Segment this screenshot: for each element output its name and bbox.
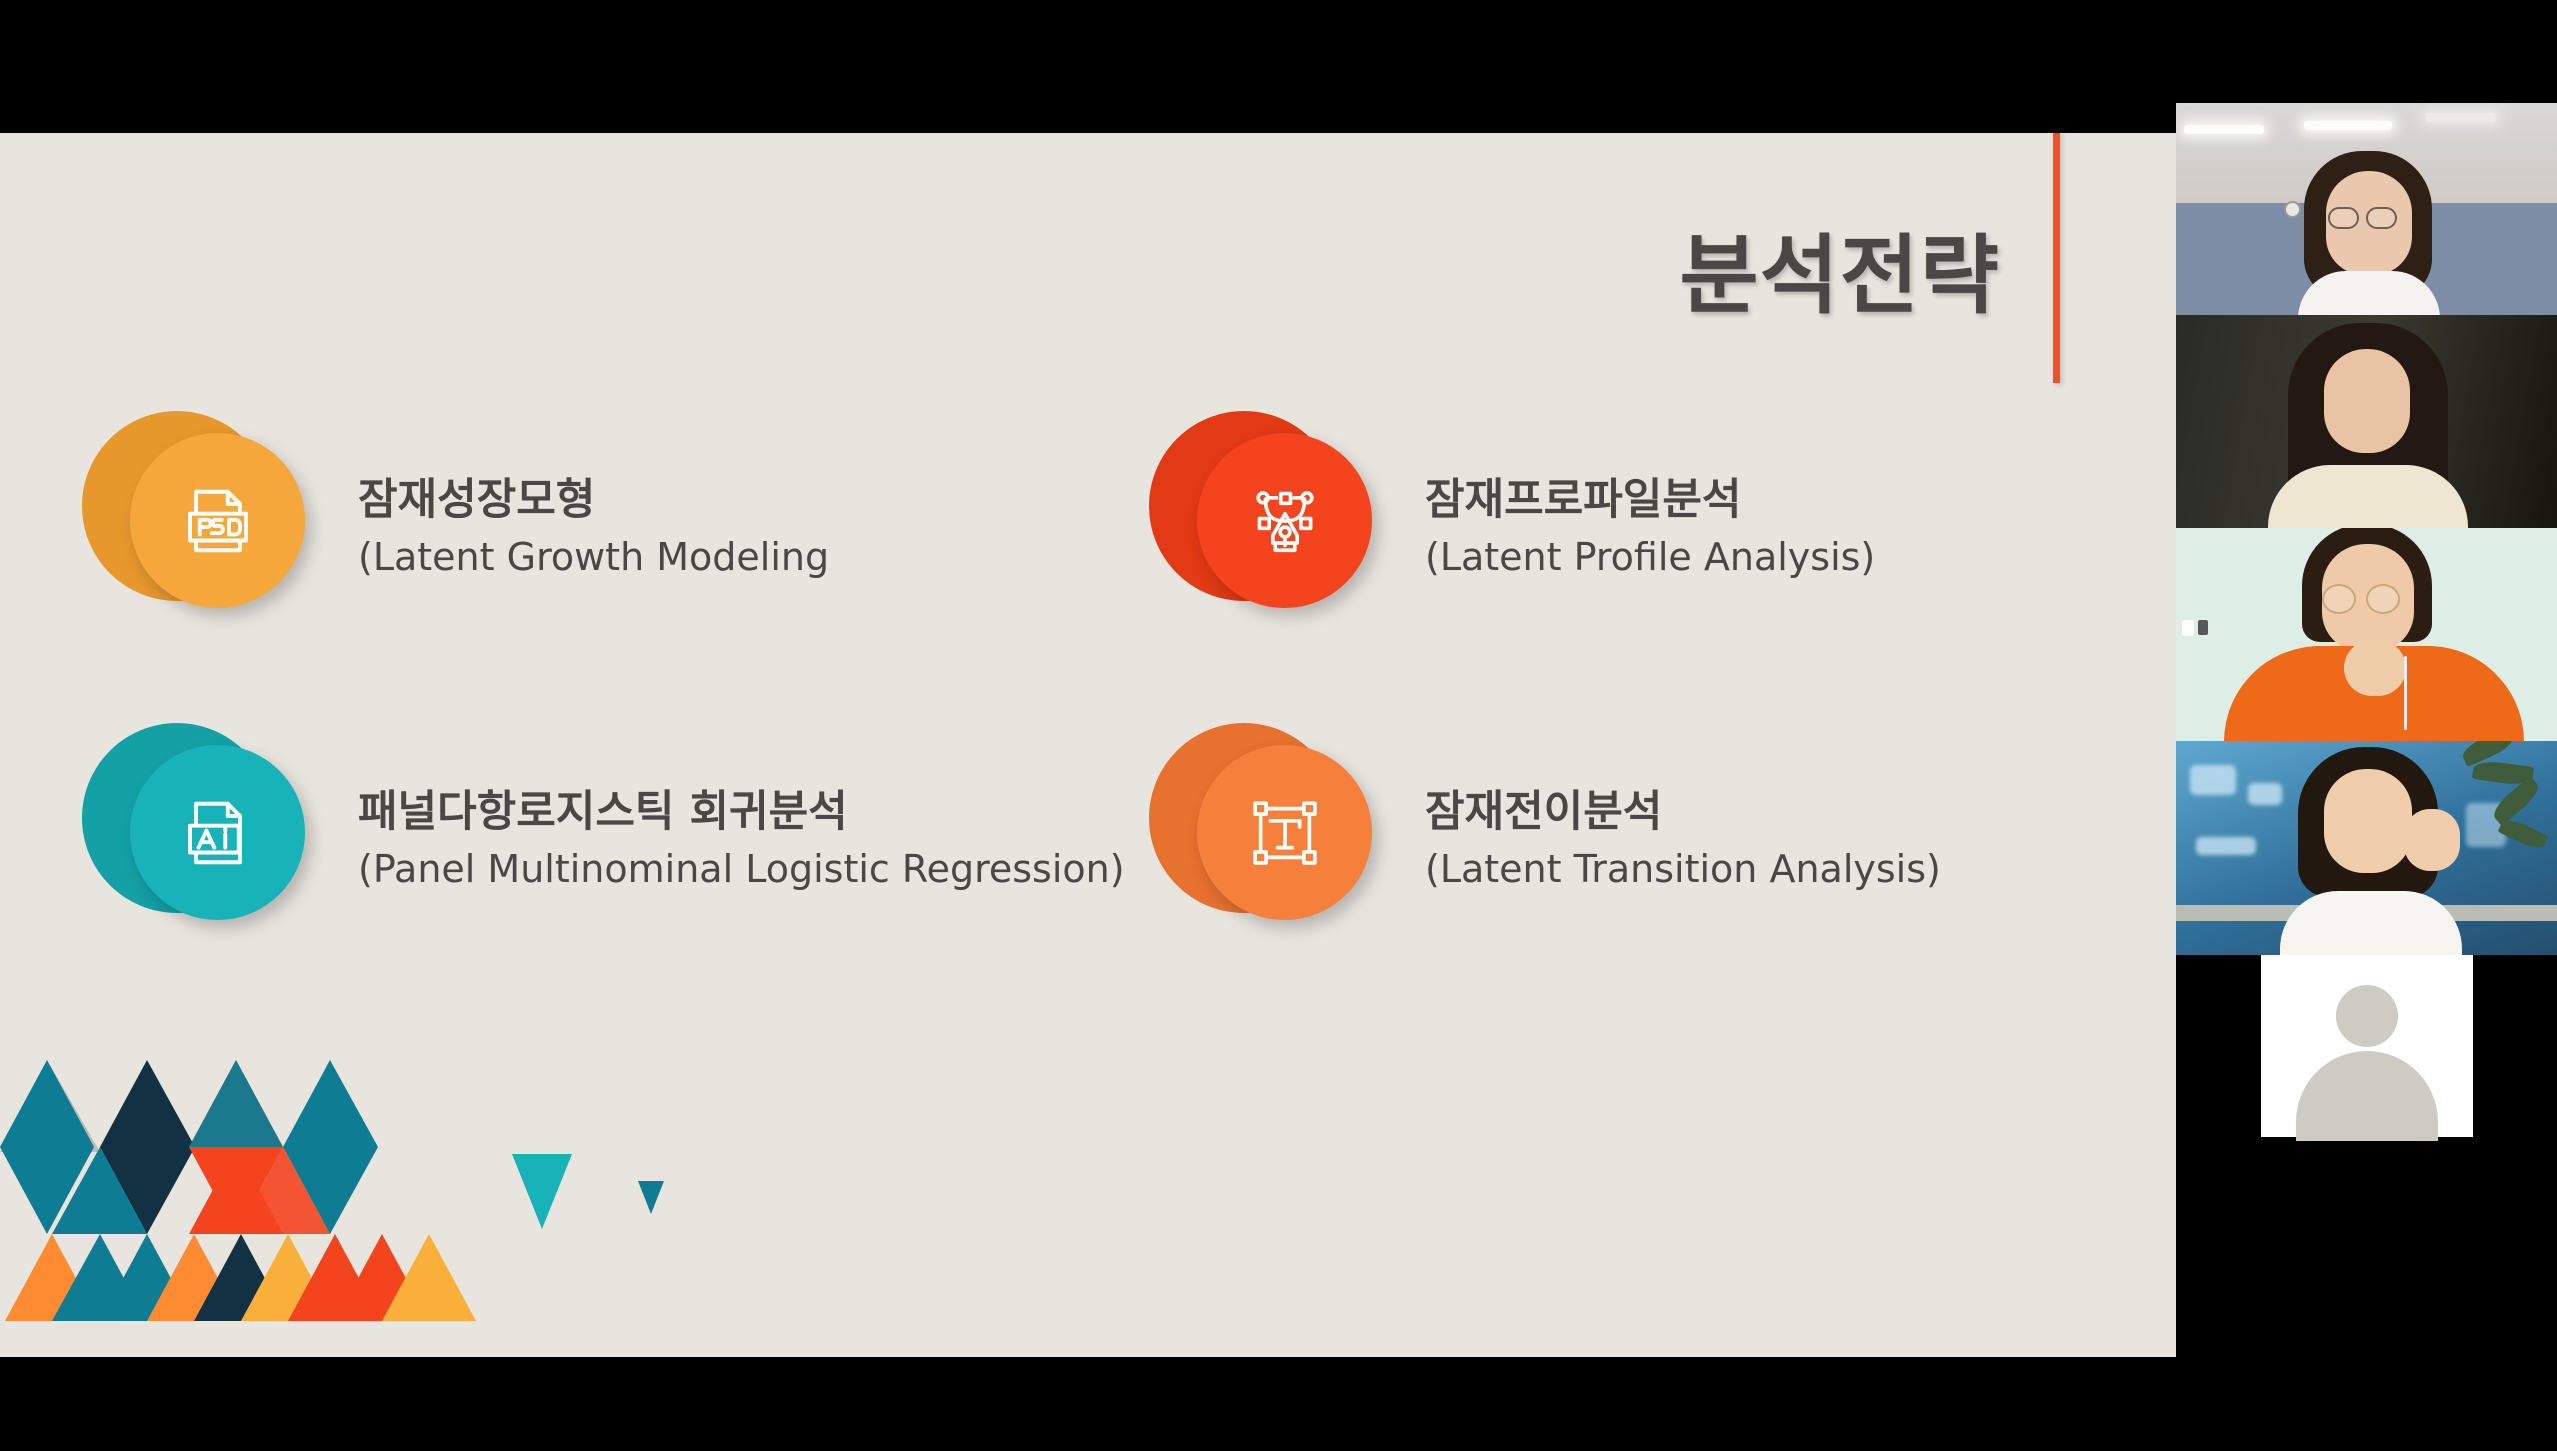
psd-file-icon xyxy=(130,433,305,608)
participant-tile-1[interactable] xyxy=(2176,103,2557,315)
video-feed xyxy=(2176,528,2557,741)
video-feed xyxy=(2176,741,2557,955)
screen-share-view: 분석전략 xyxy=(0,0,2557,1451)
ai-file-icon xyxy=(130,745,305,920)
method-title: 잠재프로파일분석 xyxy=(1425,475,1875,526)
title-accent-bar xyxy=(2053,133,2060,383)
method-subtitle: (Panel Multinominal Logistic Regression) xyxy=(358,846,1125,894)
method-subtitle: (Latent Growth Modeling xyxy=(358,534,829,582)
method-subtitle: (Latent Transition Analysis) xyxy=(1425,846,1941,894)
avatar xyxy=(2261,955,2473,1137)
participant-tile-2[interactable] xyxy=(2176,315,2557,528)
video-feed xyxy=(2176,315,2557,528)
method-item-latent-transition-analysis[interactable]: 잠재전이분석 (Latent Transition Analysis) xyxy=(1105,745,2105,935)
presentation-slide: 분석전략 xyxy=(0,133,2176,1357)
analysis-method-list: 잠재성장모형 (Latent Growth Modeling xyxy=(0,433,2176,935)
badge-wrap xyxy=(1197,745,1387,935)
method-title: 잠재성장모형 xyxy=(358,475,829,526)
triangle-cluster-decoration xyxy=(0,1057,720,1357)
participant-tile-5[interactable] xyxy=(2176,955,2557,1168)
method-text: 잠재프로파일분석 (Latent Profile Analysis) xyxy=(1425,475,1875,581)
method-text: 패널다항로지스틱 회귀분석 (Panel Multinominal Logist… xyxy=(358,787,1125,893)
method-item-latent-profile-analysis[interactable]: 잠재프로파일분석 (Latent Profile Analysis) xyxy=(1105,433,2105,623)
video-feed xyxy=(2176,103,2557,315)
page-title: 분석전략 xyxy=(1680,233,2000,319)
method-item-latent-growth-modeling[interactable]: 잠재성장모형 (Latent Growth Modeling xyxy=(0,433,1105,623)
method-item-panel-multinominal-logistic-regression[interactable]: 패널다항로지스틱 회귀분석 (Panel Multinominal Logist… xyxy=(0,745,1105,935)
pen-tool-icon xyxy=(1197,433,1372,608)
text-tool-icon xyxy=(1197,745,1372,920)
badge-wrap xyxy=(130,745,320,935)
method-row-2: 패널다항로지스틱 회귀분석 (Panel Multinominal Logist… xyxy=(0,745,2176,935)
avatar-head-icon xyxy=(2336,985,2398,1047)
method-text: 잠재성장모형 (Latent Growth Modeling xyxy=(358,475,829,581)
method-title: 패널다항로지스틱 회귀분석 xyxy=(358,787,1125,838)
method-title: 잠재전이분석 xyxy=(1425,787,1941,838)
participant-tile-3[interactable] xyxy=(2176,528,2557,741)
method-row-1: 잠재성장모형 (Latent Growth Modeling xyxy=(0,433,2176,623)
badge-wrap xyxy=(130,433,320,623)
method-text: 잠재전이분석 (Latent Transition Analysis) xyxy=(1425,787,1941,893)
avatar-body-icon xyxy=(2296,1051,2438,1141)
title-block: 분석전략 xyxy=(1680,233,2000,319)
participant-video-panel xyxy=(2176,103,2557,1168)
badge-wrap xyxy=(1197,433,1387,623)
participant-tile-4[interactable] xyxy=(2176,741,2557,955)
method-subtitle: (Latent Profile Analysis) xyxy=(1425,534,1875,582)
